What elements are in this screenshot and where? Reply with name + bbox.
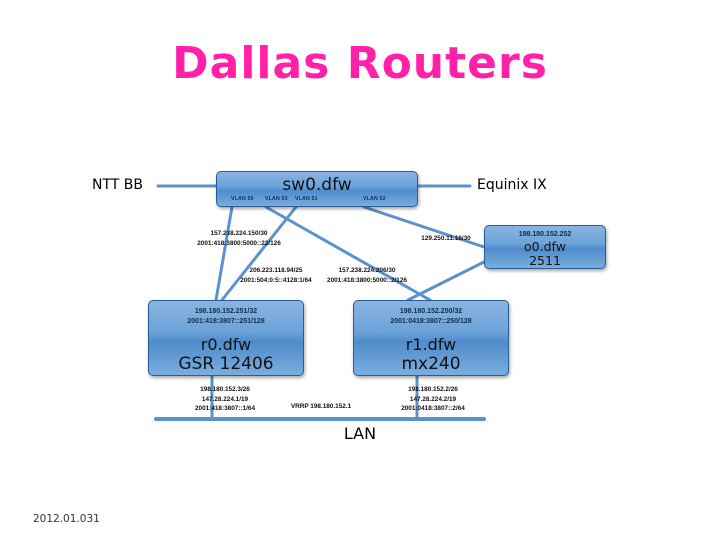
node-switch-name: sw0.dfw — [217, 172, 417, 196]
node-router-r0[interactable]: 198.180.152.251/32 2001:418:3807::251/12… — [148, 300, 304, 376]
annotation-ix-left: 206.223.118.94/25 2001:504:0:5::4128:1/6… — [228, 266, 324, 285]
annotation-lan-right-ipv4: 198.180.152.2/26 — [366, 385, 500, 395]
annotation-vrrp: VRRP 198.180.152.1 — [248, 402, 394, 412]
annotation-ix-left-ipv6: 2001:504:0:5::4128:1/64 — [228, 276, 324, 286]
annotation-ix-right: 157.238.224.206/30 2001:418:3800:5000::2… — [314, 266, 420, 285]
annotation-ix-right-ipv6: 2001:418:3800:5000::2/126 — [314, 276, 420, 286]
annotation-ntt-ipv4: 157.238.224.150/30 — [166, 229, 312, 239]
node-r0-ipv6: 2001:418:3807::251/128 — [149, 317, 303, 327]
node-oob-o0[interactable]: 198.180.152.252 o0.dfw 2511 — [484, 225, 606, 269]
annotation-ntt-ipv6: 2001:418:3800:5000::22/126 — [166, 239, 312, 249]
node-r1-ipv4: 198.180.152.250/32 — [354, 301, 508, 317]
external-label-equinix: Equinix IX — [477, 177, 547, 193]
node-oob-name: o0.dfw — [485, 240, 605, 254]
switch-port-vlan51: VLAN 51 — [295, 196, 318, 202]
footer-date: 2012.01.031 — [33, 513, 100, 525]
slide-canvas: Dallas Routers NTT BB Equinix IX — [0, 0, 720, 540]
node-r1-ipv6: 2001:0418:3807::250/128 — [354, 317, 508, 327]
node-router-r1[interactable]: 198.180.152.250/32 2001:0418:3807::250/1… — [353, 300, 509, 376]
node-r1-model: mx240 — [354, 354, 508, 374]
link-vlan50-to-r0 — [216, 207, 232, 300]
switch-port-vlan52: VLAN 52 — [363, 196, 386, 202]
switch-port-vlan50: VLAN 50 — [231, 196, 254, 202]
node-r0-model: GSR 12406 — [149, 354, 303, 374]
annotation-ntt-link: 157.238.224.150/30 2001:418:3800:5000::2… — [166, 229, 312, 248]
node-r1-name: r1.dfw — [354, 327, 508, 354]
node-r0-ipv4: 198.180.152.251/32 — [149, 301, 303, 317]
switch-port-vlan53: VLAN 53 — [265, 196, 288, 202]
link-vlan51-to-r0 — [222, 207, 296, 300]
annotation-oob-ipv4: 129.250.11.18/30 — [396, 234, 496, 244]
switch-port-row: VLAN 50 VLAN 53 VLAN 51 VLAN 52 — [217, 196, 419, 207]
node-oob-ip: 198.180.152.252 — [485, 226, 605, 240]
external-label-ntt: NTT BB — [92, 177, 143, 193]
node-switch-sw0[interactable]: sw0.dfw VLAN 50 VLAN 53 VLAN 51 VLAN 52 — [216, 171, 418, 207]
annotation-lan-left-ipv4: 198.180.152.3/26 — [160, 385, 290, 395]
annotation-ix-left-ipv4: 206.223.118.94/25 — [228, 266, 324, 276]
annotation-oob-link: 129.250.11.18/30 — [396, 234, 496, 244]
node-r0-name: r0.dfw — [149, 327, 303, 354]
node-oob-model: 2511 — [485, 254, 605, 268]
external-label-lan: LAN — [0, 424, 720, 443]
annotation-ix-right-ipv4: 157.238.224.206/30 — [314, 266, 420, 276]
